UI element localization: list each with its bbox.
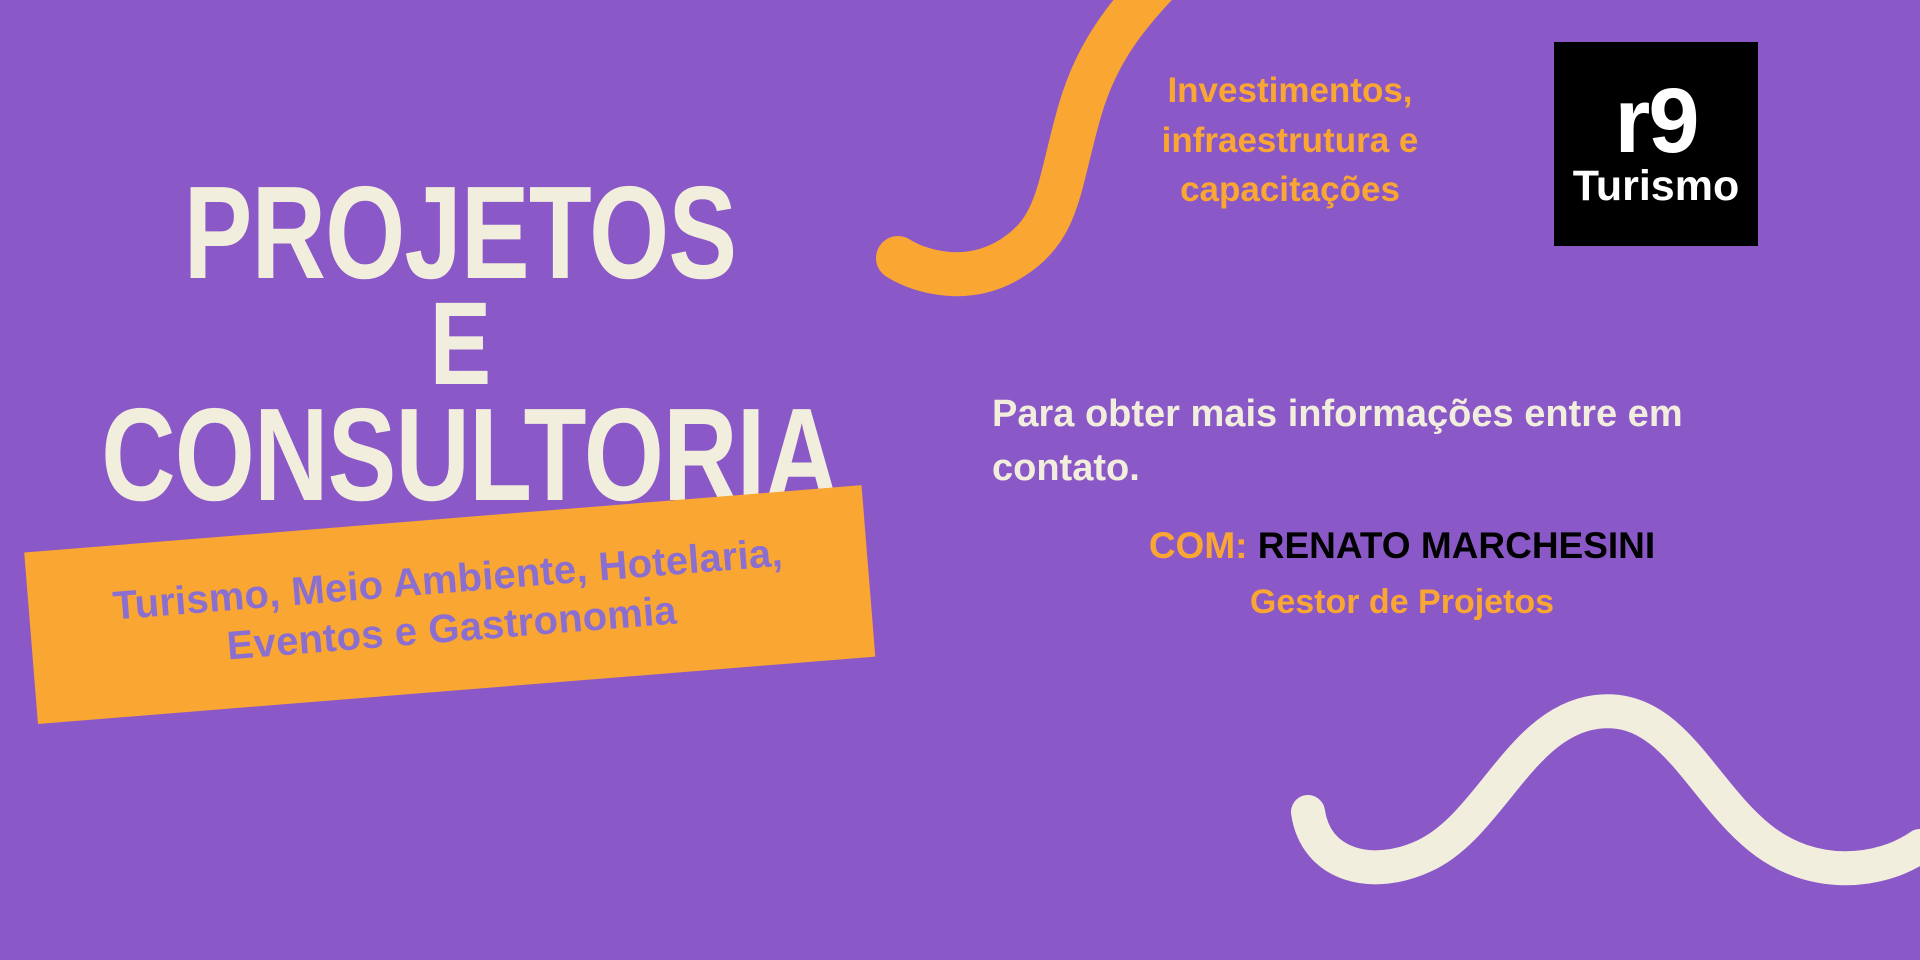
- page-title: PROJETOS E CONSULTORIA: [0, 178, 920, 511]
- cream-wave-icon: [1308, 711, 1920, 868]
- headline-line-2: E: [101, 295, 819, 394]
- headline-line-3: CONSULTORIA: [101, 400, 819, 511]
- contact-person-role: Gestor de Projetos: [992, 583, 1812, 622]
- headline-line-1: PROJETOS: [101, 178, 819, 289]
- contact-person-label: COM:: [1149, 525, 1248, 566]
- contact-person: COM: RENATO MARCHESINI: [992, 525, 1812, 567]
- promotional-banner: PROJETOS E CONSULTORIA Turismo, Meio Amb…: [0, 0, 1920, 960]
- kicker-line-3: capacitações: [1110, 165, 1470, 215]
- kicker-text: Investimentos, infraestrutura e capacita…: [1110, 66, 1470, 215]
- logo-subtitle: Turismo: [1573, 165, 1739, 208]
- contact-lead-text: Para obter mais informações entre em con…: [992, 388, 1812, 496]
- logo-mark: r9: [1615, 80, 1698, 163]
- contact-person-name: RENATO MARCHESINI: [1258, 525, 1655, 566]
- kicker-line-1: Investimentos,: [1110, 66, 1470, 116]
- r9-turismo-logo: r9 Turismo: [1554, 42, 1758, 246]
- kicker-line-2: infraestrutura e: [1110, 116, 1470, 166]
